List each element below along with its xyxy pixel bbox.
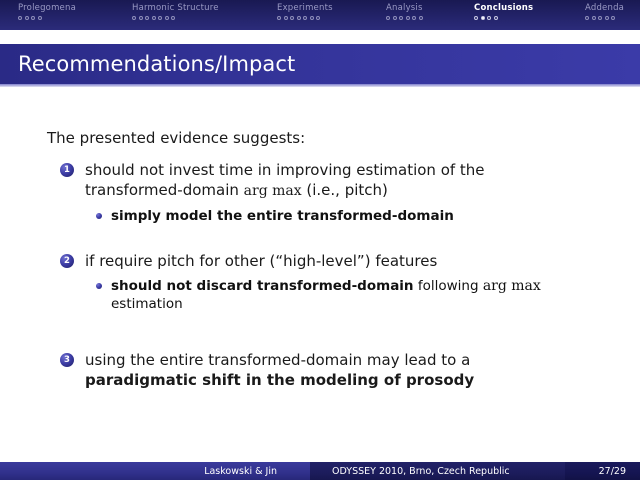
nav-section-label: Harmonic Structure: [132, 3, 219, 13]
nav-dots-prolegomena: [18, 16, 76, 20]
nav-dot[interactable]: [165, 16, 169, 20]
nav-dot[interactable]: [152, 16, 156, 20]
bullet-dot-icon: [96, 213, 102, 219]
slide-body: The presented evidence suggests: 1 shoul…: [0, 96, 640, 452]
enumerate-row: 2 if require pitch for other (“high-leve…: [60, 251, 605, 271]
nav-dot[interactable]: [605, 16, 609, 20]
sub-item-text: simply model the entire transformed-doma…: [111, 207, 454, 225]
slide-footer: Laskowski & Jin ODYSSEY 2010, Brno, Czec…: [0, 462, 640, 480]
nav-dots-addenda: [585, 16, 624, 20]
nav-section-label: Conclusions: [474, 3, 533, 13]
enumerate-text-3: using the entire transformed-domain may …: [85, 350, 474, 390]
nav-section-addenda[interactable]: Addenda: [585, 3, 624, 20]
nav-section-label: Experiments: [277, 3, 333, 13]
nav-dot[interactable]: [25, 16, 29, 20]
nav-dot[interactable]: [277, 16, 281, 20]
sub-item2-bold: should not discard transformed-domain: [111, 278, 414, 294]
sub-item-text: should not discard transformed-domain fo…: [111, 277, 591, 313]
nav-dot[interactable]: [393, 16, 397, 20]
nav-dots-conclusions: [474, 16, 533, 20]
nav-dot[interactable]: [598, 16, 602, 20]
enumerate-marker-3: 3: [60, 353, 74, 367]
nav-dot[interactable]: [145, 16, 149, 20]
item3-line2-bold: paradigmatic shift in the modeling of pr…: [85, 371, 474, 389]
nav-dot[interactable]: [31, 16, 35, 20]
item1-line1: should not invest time in improving esti…: [85, 161, 485, 179]
nav-dot[interactable]: [494, 16, 498, 20]
item1-line2-argmax: arg max: [244, 183, 302, 199]
bullet-dot-icon: [96, 283, 102, 289]
list-item: 1 should not invest time in improving es…: [60, 160, 605, 225]
nav-section-label: Prolegomena: [18, 3, 76, 13]
enumerate-row: 3 using the entire transformed-domain ma…: [60, 350, 605, 390]
item2-line1: if require pitch for other (“high-level”…: [85, 252, 437, 270]
item1-line2-post: (i.e., pitch): [302, 181, 388, 199]
nav-dot[interactable]: [487, 16, 491, 20]
list-item: 3 using the entire transformed-domain ma…: [60, 350, 605, 390]
list-item: 2 if require pitch for other (“high-leve…: [60, 251, 605, 313]
sub-item1-bold: simply model the entire transformed-doma…: [111, 208, 454, 224]
footer-author: Laskowski & Jin: [0, 462, 310, 480]
nav-dot[interactable]: [139, 16, 143, 20]
enumerate-text-2: if require pitch for other (“high-level”…: [85, 251, 437, 271]
slide: Prolegomena Harmonic Structure Experime: [0, 0, 640, 480]
nav-dots-analysis: [386, 16, 423, 20]
nav-dot[interactable]: [132, 16, 136, 20]
nav-dot[interactable]: [18, 16, 22, 20]
nav-section-experiments[interactable]: Experiments: [277, 3, 333, 20]
nav-dots-experiments: [277, 16, 333, 20]
nav-dot[interactable]: [290, 16, 294, 20]
enumerate-marker-2: 2: [60, 254, 74, 268]
nav-dot[interactable]: [303, 16, 307, 20]
sub-item2-plain: following: [414, 278, 483, 294]
nav-dot[interactable]: [399, 16, 403, 20]
nav-section-conclusions[interactable]: Conclusions: [474, 3, 533, 20]
nav-dot-current[interactable]: [481, 16, 485, 20]
page-title: Recommendations/Impact: [0, 52, 295, 76]
nav-section-analysis[interactable]: Analysis: [386, 3, 423, 20]
sub-list-item: simply model the entire transformed-doma…: [96, 207, 605, 225]
nav-dot[interactable]: [284, 16, 288, 20]
sub-list-item: should not discard transformed-domain fo…: [96, 277, 605, 313]
intro-text: The presented evidence suggests:: [47, 129, 305, 147]
section-navigation-bar: Prolegomena Harmonic Structure Experime: [0, 0, 640, 30]
nav-dot[interactable]: [585, 16, 589, 20]
nav-dot[interactable]: [386, 16, 390, 20]
enumerate-row: 1 should not invest time in improving es…: [60, 160, 605, 201]
nav-section-prolegomena[interactable]: Prolegomena: [18, 3, 76, 20]
nav-dot[interactable]: [611, 16, 615, 20]
nav-dot[interactable]: [171, 16, 175, 20]
item1-line2-pre: transformed-domain: [85, 181, 244, 199]
nav-dot[interactable]: [412, 16, 416, 20]
nav-dot[interactable]: [310, 16, 314, 20]
footer-venue: ODYSSEY 2010, Brno, Czech Republic: [310, 462, 565, 480]
title-underline-divider: [0, 84, 640, 87]
enumerate-text-1: should not invest time in improving esti…: [85, 160, 485, 201]
nav-section-label: Addenda: [585, 3, 624, 13]
nav-section-label: Analysis: [386, 3, 423, 13]
sub-item2-argmax: arg max: [483, 278, 541, 294]
nav-dot[interactable]: [316, 16, 320, 20]
nav-dot[interactable]: [474, 16, 478, 20]
footer-page-number: 27/29: [565, 462, 640, 480]
nav-dot[interactable]: [592, 16, 596, 20]
nav-dot[interactable]: [297, 16, 301, 20]
nav-dots-harmonic-structure: [132, 16, 219, 20]
sub-item2-plain2: estimation: [111, 296, 183, 312]
enumerate-marker-1: 1: [60, 163, 74, 177]
nav-dot[interactable]: [406, 16, 410, 20]
nav-dot[interactable]: [158, 16, 162, 20]
nav-dot[interactable]: [419, 16, 423, 20]
item3-line1: using the entire transformed-domain may …: [85, 351, 470, 369]
nav-section-harmonic-structure[interactable]: Harmonic Structure: [132, 3, 219, 20]
nav-dot[interactable]: [38, 16, 42, 20]
frame-title-bar: Recommendations/Impact: [0, 44, 640, 84]
